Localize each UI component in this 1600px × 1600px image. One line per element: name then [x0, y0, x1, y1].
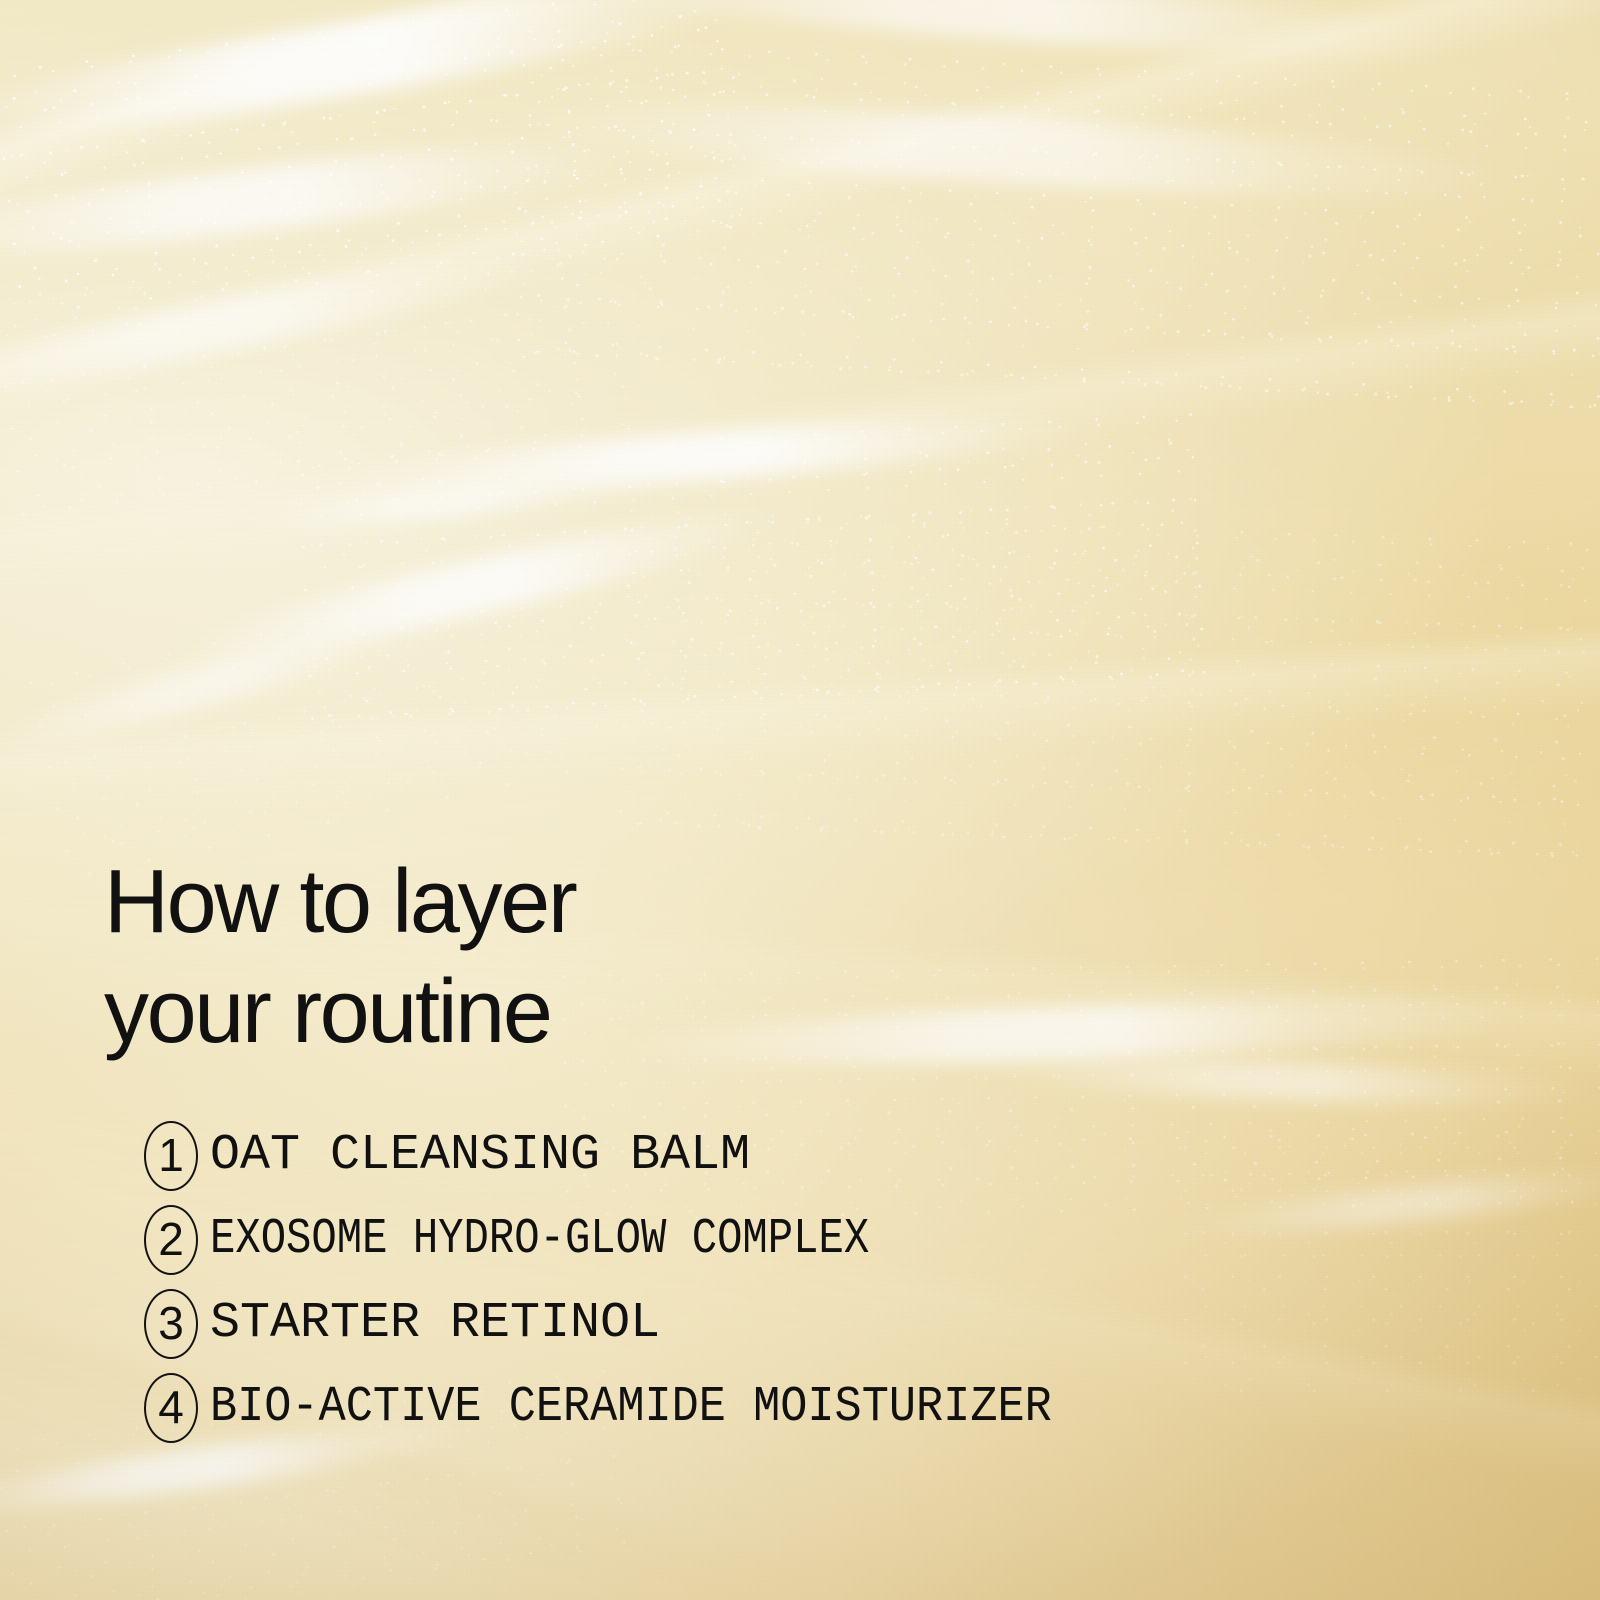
step-product-name: EXOSOME HYDRO-GLOW COMPLEX — [210, 1215, 869, 1265]
step-product-name: STARTER RETINOL — [210, 1299, 660, 1349]
step-number-label: 2 — [140, 1205, 202, 1275]
routine-step-list: 1 OAT CLEANSING BALM 2 EXOSOME HYDRO-GLO… — [100, 1114, 1560, 1450]
step-number-label: 4 — [140, 1373, 202, 1443]
step-number-badge: 3 — [140, 1289, 202, 1359]
list-item: 2 EXOSOME HYDRO-GLOW COMPLEX — [140, 1198, 1560, 1282]
step-number-label: 3 — [140, 1289, 202, 1359]
list-item: 1 OAT CLEANSING BALM — [140, 1114, 1560, 1198]
step-number-badge: 1 — [140, 1121, 202, 1191]
step-number-label: 1 — [140, 1121, 202, 1191]
list-item: 4 BIO-ACTIVE CERAMIDE MOISTURIZER — [140, 1366, 1560, 1450]
page-title: How to layer your routine — [104, 848, 575, 1067]
step-product-name: BIO-ACTIVE CERAMIDE MOISTURIZER — [210, 1383, 1052, 1433]
promo-image: How to layer your routine 1 OAT CLEANSIN… — [0, 0, 1600, 1600]
step-number-badge: 2 — [140, 1205, 202, 1275]
step-number-badge: 4 — [140, 1373, 202, 1443]
list-item: 3 STARTER RETINOL — [140, 1282, 1560, 1366]
overlay-copy: How to layer your routine 1 OAT CLEANSIN… — [0, 0, 1600, 1600]
step-product-name: OAT CLEANSING BALM — [210, 1131, 750, 1181]
